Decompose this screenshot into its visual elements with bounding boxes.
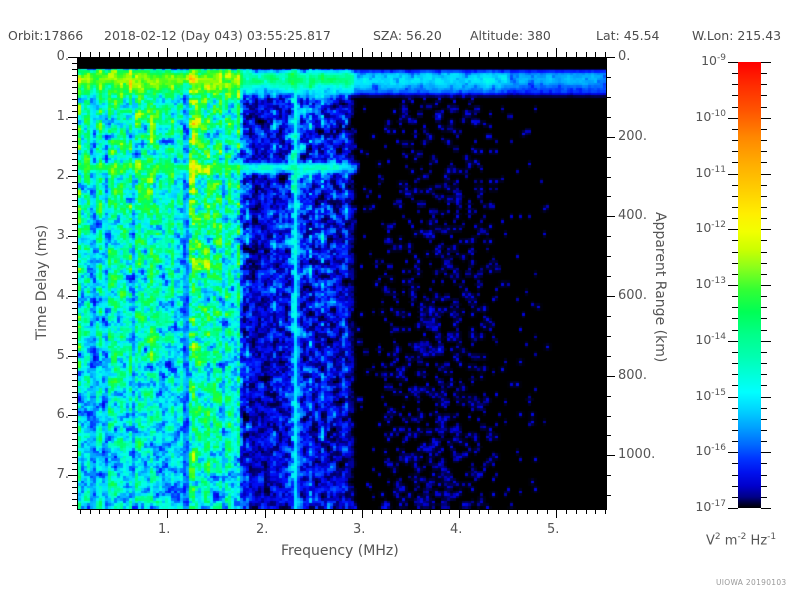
x-tick-top [459, 48, 460, 57]
y2-tick [606, 117, 611, 118]
y2-tick [606, 97, 611, 98]
colorbar-major-tick [728, 397, 738, 398]
colorbar-minor-tick [732, 140, 738, 141]
y-tick [72, 499, 77, 500]
y-tick [68, 236, 77, 237]
x-tick-top [138, 52, 139, 57]
y2-tick [606, 276, 611, 277]
x-tick-top [449, 52, 450, 57]
y-tick [72, 308, 77, 309]
x-tick-top [226, 52, 227, 57]
y-tick [68, 415, 77, 416]
x-tick [362, 509, 363, 518]
colorbar-minor-tick-right [761, 240, 767, 241]
colorbar-minor-tick-right [761, 318, 767, 319]
x-tick-top [595, 52, 596, 57]
y2-tick [606, 256, 611, 257]
x-tick-top [527, 52, 528, 57]
x-tick-top [80, 52, 81, 57]
y-tick [72, 314, 77, 315]
colorbar-minor-tick [732, 95, 738, 96]
colorbar-minor-tick-right [761, 441, 767, 442]
colorbar-minor-tick-right [761, 73, 767, 74]
colorbar-tick-label: 10-10 [676, 109, 726, 124]
y-tick-label: 7. [45, 467, 69, 482]
y-tick [72, 374, 77, 375]
colorbar-minor-tick-right [761, 307, 767, 308]
y-tick [72, 463, 77, 464]
x-tick-top [177, 52, 178, 57]
y-tick [72, 254, 77, 255]
y-tick [68, 296, 77, 297]
x-tick [235, 509, 236, 514]
y-tick-label: 2. [45, 168, 69, 183]
colorbar-minor-tick-right [761, 196, 767, 197]
colorbar-minor-tick-right [761, 263, 767, 264]
x-tick-top [420, 52, 421, 57]
x-tick-top [197, 52, 198, 57]
x-tick [99, 509, 100, 514]
colorbar-minor-tick-right [761, 419, 767, 420]
header-west-longitude: W.Lon: 215.43 [692, 28, 781, 43]
x-tick-top [255, 52, 256, 57]
x-tick [177, 509, 178, 514]
header-altitude: Altitude: 380 [470, 28, 551, 43]
colorbar-minor-tick [732, 296, 738, 297]
y2-tick [606, 236, 611, 237]
y-tick [72, 350, 77, 351]
header-metadata: Orbit:17866 2018-02-12 (Day 043) 03:55:2… [0, 28, 800, 48]
colorbar-major-tick [728, 118, 738, 119]
y-tick [72, 445, 77, 446]
colorbar-major-tick [728, 174, 738, 175]
x-tick-top [401, 52, 402, 57]
x-tick-top [274, 52, 275, 57]
credit-watermark: UIOWA 20190103 [716, 578, 787, 587]
y2-tick [606, 177, 611, 178]
colorbar-major-tick-right [761, 229, 771, 230]
y-tick [68, 176, 77, 177]
y-tick [72, 87, 77, 88]
x-tick [381, 509, 382, 514]
y-tick [72, 75, 77, 76]
x-tick [274, 509, 275, 514]
y-tick [72, 403, 77, 404]
colorbar-minor-tick-right [761, 385, 767, 386]
x-tick [498, 509, 499, 514]
y-tick [72, 392, 77, 393]
y-tick [72, 200, 77, 201]
colorbar-minor-tick-right [761, 129, 767, 130]
colorbar-minor-tick [732, 330, 738, 331]
colorbar-major-tick [728, 62, 738, 63]
y2-tick [606, 137, 615, 138]
x-tick [313, 509, 314, 514]
colorbar-minor-tick-right [761, 330, 767, 331]
colorbar-major-tick [728, 285, 738, 286]
x-tick-label: 5. [547, 522, 559, 537]
x-tick-top [148, 52, 149, 57]
x-tick-top [362, 48, 363, 57]
x-tick-top [235, 52, 236, 57]
y2-tick [606, 455, 615, 456]
colorbar-major-tick-right [761, 174, 771, 175]
x-axis-title: Frequency (MHz) [281, 543, 399, 559]
y-tick [72, 69, 77, 70]
colorbar-minor-tick-right [761, 274, 767, 275]
colorbar-tick-label: 10-17 [676, 499, 726, 514]
colorbar-minor-tick [732, 441, 738, 442]
x-tick [420, 509, 421, 514]
colorbar-minor-tick [732, 84, 738, 85]
x-tick-top [566, 52, 567, 57]
y-tick [72, 147, 77, 148]
x-tick [527, 509, 528, 514]
colorbar-major-tick-right [761, 508, 771, 509]
x-tick [294, 509, 295, 514]
header-datetime: 2018-02-12 (Day 043) 03:55:25.817 [104, 28, 331, 43]
colorbar-tick-label: 10-16 [676, 443, 726, 458]
colorbar-minor-tick-right [761, 296, 767, 297]
x-tick-top [440, 52, 441, 57]
y-tick-label: 0. [45, 49, 69, 64]
colorbar-minor-tick [732, 463, 738, 464]
colorbar-minor-tick [732, 419, 738, 420]
y2-tick [606, 396, 611, 397]
y-tick [72, 129, 77, 130]
x-tick-top [576, 52, 577, 57]
x-tick-top [313, 52, 314, 57]
y2-tick-label: 400. [618, 208, 647, 223]
y-tick [72, 493, 77, 494]
colorbar-minor-tick [732, 196, 738, 197]
x-tick [333, 509, 334, 514]
colorbar-minor-tick-right [761, 497, 767, 498]
y-tick [68, 475, 77, 476]
x-tick-top [99, 52, 100, 57]
colorbar-major-tick-right [761, 62, 771, 63]
colorbar-minor-tick-right [761, 140, 767, 141]
y-tick [72, 206, 77, 207]
x-tick [605, 509, 606, 514]
y-tick-label: 6. [45, 407, 69, 422]
x-tick [304, 509, 305, 514]
y2-axis-title: Apparent Range (km) [652, 212, 668, 362]
x-tick-top [537, 52, 538, 57]
spectrogram-plot-area [77, 57, 607, 510]
colorbar-minor-tick-right [761, 151, 767, 152]
x-tick-top [119, 52, 120, 57]
colorbar-minor-tick [732, 218, 738, 219]
colorbar-minor-tick-right [761, 363, 767, 364]
y-tick [72, 344, 77, 345]
colorbar-minor-tick [732, 307, 738, 308]
y-tick [72, 421, 77, 422]
y-tick [72, 368, 77, 369]
colorbar-minor-tick-right [761, 84, 767, 85]
x-tick-top [547, 52, 548, 57]
x-tick [216, 509, 217, 514]
x-tick-top [216, 52, 217, 57]
y-tick [72, 469, 77, 470]
colorbar-tick-label: 10-13 [676, 276, 726, 291]
colorbar-minor-tick [732, 363, 738, 364]
x-tick-top [352, 52, 353, 57]
x-tick [323, 509, 324, 514]
y-tick [72, 266, 77, 267]
colorbar-minor-tick-right [761, 207, 767, 208]
x-tick-top [586, 52, 587, 57]
y-tick [72, 397, 77, 398]
x-tick [284, 509, 285, 514]
y-tick [68, 57, 77, 58]
colorbar [738, 62, 761, 508]
colorbar-minor-tick [732, 497, 738, 498]
x-tick-label: 3. [353, 522, 365, 537]
x-tick-top [167, 48, 168, 57]
x-tick [479, 509, 480, 514]
colorbar-tick-label: 10-15 [676, 388, 726, 403]
x-tick [119, 509, 120, 514]
x-tick [138, 509, 139, 514]
y-tick [72, 123, 77, 124]
y-tick [72, 386, 77, 387]
colorbar-minor-tick [732, 385, 738, 386]
colorbar-gradient [738, 62, 761, 508]
x-tick [595, 509, 596, 514]
colorbar-tick-label: 10-14 [676, 332, 726, 347]
y2-tick [606, 296, 615, 297]
x-tick-top [498, 52, 499, 57]
x-tick [469, 509, 470, 514]
x-tick-top [381, 52, 382, 57]
y-tick [72, 135, 77, 136]
colorbar-minor-tick-right [761, 162, 767, 163]
colorbar-minor-tick-right [761, 185, 767, 186]
x-tick-top [517, 52, 518, 57]
y-tick [72, 272, 77, 273]
y2-tick [606, 316, 611, 317]
y-tick [72, 481, 77, 482]
colorbar-minor-tick [732, 274, 738, 275]
y-tick [68, 117, 77, 118]
y-tick [72, 427, 77, 428]
x-tick [90, 509, 91, 514]
colorbar-minor-tick-right [761, 475, 767, 476]
y2-tick [606, 495, 611, 496]
y-tick [72, 81, 77, 82]
y-axis-title: Time Delay (ms) [34, 225, 50, 340]
x-tick-top [333, 52, 334, 57]
x-tick [537, 509, 538, 514]
colorbar-minor-tick-right [761, 95, 767, 96]
x-tick [449, 509, 450, 514]
colorbar-minor-tick-right [761, 352, 767, 353]
colorbar-major-tick-right [761, 452, 771, 453]
x-tick [440, 509, 441, 514]
x-tick [517, 509, 518, 514]
x-tick-top [265, 48, 266, 57]
header-sza: SZA: 56.20 [373, 28, 442, 43]
y-tick-label: 1. [45, 109, 69, 124]
x-tick [508, 509, 509, 514]
x-tick-top [129, 52, 130, 57]
y-tick [72, 230, 77, 231]
x-tick [206, 509, 207, 514]
x-tick [197, 509, 198, 514]
y-tick [72, 338, 77, 339]
x-tick [586, 509, 587, 514]
x-tick-top [411, 52, 412, 57]
y2-tick [606, 157, 611, 158]
y-tick [72, 111, 77, 112]
x-tick-top [284, 52, 285, 57]
y2-tick [606, 416, 611, 417]
header-latitude: Lat: 45.54 [596, 28, 660, 43]
y-tick [72, 99, 77, 100]
x-tick [391, 509, 392, 514]
y-tick [72, 242, 77, 243]
x-tick [576, 509, 577, 514]
x-tick [109, 509, 110, 514]
colorbar-minor-tick-right [761, 463, 767, 464]
y-tick [72, 194, 77, 195]
colorbar-minor-tick [732, 240, 738, 241]
x-tick [255, 509, 256, 514]
colorbar-tick-label: 10-9 [676, 53, 726, 68]
colorbar-tick-label: 10-11 [676, 165, 726, 180]
y-tick [72, 188, 77, 189]
colorbar-minor-tick [732, 374, 738, 375]
y-tick [72, 248, 77, 249]
x-tick [459, 509, 460, 518]
colorbar-minor-tick [732, 185, 738, 186]
x-tick-top [109, 52, 110, 57]
colorbar-minor-tick-right [761, 430, 767, 431]
x-tick [129, 509, 130, 514]
header-orbit: Orbit:17866 [8, 28, 83, 43]
x-tick [245, 509, 246, 514]
x-tick-top [323, 52, 324, 57]
x-tick-label: 4. [450, 522, 462, 537]
x-tick [547, 509, 548, 514]
x-tick [411, 509, 412, 514]
colorbar-major-tick-right [761, 341, 771, 342]
y2-tick [606, 435, 611, 436]
colorbar-major-tick-right [761, 118, 771, 119]
y2-tick-label: 0. [618, 49, 630, 64]
colorbar-minor-tick-right [761, 252, 767, 253]
y-tick [72, 332, 77, 333]
x-tick [556, 509, 557, 518]
y-tick [72, 141, 77, 142]
x-tick [148, 509, 149, 514]
x-tick-top [372, 52, 373, 57]
x-tick-top [158, 52, 159, 57]
y-tick [72, 165, 77, 166]
colorbar-minor-tick-right [761, 374, 767, 375]
y-tick [72, 302, 77, 303]
colorbar-minor-tick-right [761, 107, 767, 108]
colorbar-minor-tick [732, 151, 738, 152]
y2-tick [606, 356, 611, 357]
y-tick [72, 218, 77, 219]
colorbar-minor-tick [732, 486, 738, 487]
x-tick-top [90, 52, 91, 57]
x-tick-top [508, 52, 509, 57]
colorbar-minor-tick [732, 408, 738, 409]
x-tick-top [430, 52, 431, 57]
y-tick [72, 362, 77, 363]
x-tick [158, 509, 159, 514]
y-tick [72, 409, 77, 410]
y2-tick [606, 336, 611, 337]
y2-tick-label: 800. [618, 368, 647, 383]
colorbar-major-tick [728, 508, 738, 509]
y2-tick-label: 600. [618, 288, 647, 303]
x-tick [265, 509, 266, 518]
y2-tick [606, 77, 611, 78]
colorbar-major-tick [728, 341, 738, 342]
x-tick-top [556, 48, 557, 57]
x-tick [342, 509, 343, 514]
y-tick [72, 487, 77, 488]
x-tick [566, 509, 567, 514]
y-tick [72, 433, 77, 434]
x-tick [187, 509, 188, 514]
y2-tick [606, 216, 615, 217]
y-tick [72, 63, 77, 64]
colorbar-minor-tick-right [761, 408, 767, 409]
y-tick [72, 153, 77, 154]
y-tick [72, 170, 77, 171]
x-tick-top [294, 52, 295, 57]
spectrogram-image [78, 58, 606, 509]
y-tick [72, 320, 77, 321]
x-tick [401, 509, 402, 514]
y2-tick [606, 57, 615, 58]
y-tick [68, 356, 77, 357]
colorbar-minor-tick [732, 352, 738, 353]
x-tick [167, 509, 168, 518]
colorbar-minor-tick [732, 207, 738, 208]
y2-tick-label: 200. [618, 129, 647, 144]
colorbar-minor-tick-right [761, 486, 767, 487]
colorbar-major-tick [728, 229, 738, 230]
y-tick [72, 290, 77, 291]
x-tick [80, 509, 81, 514]
y-tick [72, 380, 77, 381]
y-tick [72, 159, 77, 160]
colorbar-minor-tick [732, 430, 738, 431]
y-tick [72, 278, 77, 279]
colorbar-units-label: V2 m-2 Hz-1 [706, 532, 776, 548]
y-tick [72, 93, 77, 94]
colorbar-major-tick-right [761, 285, 771, 286]
x-tick [372, 509, 373, 514]
y-tick [72, 457, 77, 458]
x-tick-top [206, 52, 207, 57]
x-tick-label: 1. [158, 522, 170, 537]
y2-tick [606, 376, 615, 377]
colorbar-major-tick [728, 452, 738, 453]
y2-tick [606, 475, 611, 476]
colorbar-major-tick-right [761, 397, 771, 398]
y-tick-label: 5. [45, 348, 69, 363]
y-tick [72, 212, 77, 213]
x-tick [430, 509, 431, 514]
colorbar-minor-tick [732, 318, 738, 319]
